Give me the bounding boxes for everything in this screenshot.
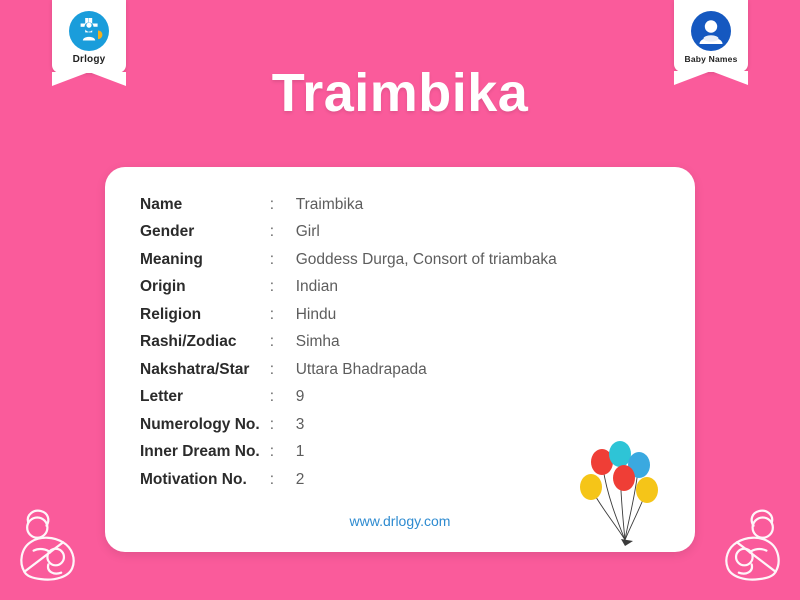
row-label: Numerology No. — [140, 411, 270, 439]
mother-and-baby-icon — [6, 500, 98, 592]
table-row: Inner Dream No. : 1 — [140, 439, 557, 467]
table-row: Nakshatra/Star : Uttara Bhadrapada — [140, 356, 557, 384]
row-value: 9 — [296, 384, 557, 412]
row-value: 1 — [296, 439, 557, 467]
row-value: Girl — [296, 219, 557, 247]
row-colon: : — [270, 384, 296, 412]
row-label: Name — [140, 191, 270, 219]
row-value: Uttara Bhadrapada — [296, 356, 557, 384]
row-label: Motivation No. — [140, 466, 270, 494]
row-colon: : — [270, 219, 296, 247]
row-value: 2 — [296, 466, 557, 494]
row-colon: : — [270, 274, 296, 302]
table-row: Rashi/Zodiac : Simha — [140, 329, 557, 357]
row-label: Nakshatra/Star — [140, 356, 270, 384]
row-value: 3 — [296, 411, 557, 439]
name-details-table: Name : Traimbika Gender : Girl Meaning :… — [140, 191, 557, 494]
row-colon: : — [270, 191, 296, 219]
row-label: Inner Dream No. — [140, 439, 270, 467]
table-row: Origin : Indian — [140, 274, 557, 302]
table-row: Gender : Girl — [140, 219, 557, 247]
table-row: Motivation No. : 2 — [140, 466, 557, 494]
row-colon: : — [270, 356, 296, 384]
row-colon: : — [270, 246, 296, 274]
row-value: Indian — [296, 274, 557, 302]
row-colon: : — [270, 329, 296, 357]
row-value: Simha — [296, 329, 557, 357]
row-label: Gender — [140, 219, 270, 247]
row-label: Origin — [140, 274, 270, 302]
row-value: Hindu — [296, 301, 557, 329]
table-row: Name : Traimbika — [140, 191, 557, 219]
row-colon: : — [270, 301, 296, 329]
name-details-card: Name : Traimbika Gender : Girl Meaning :… — [105, 167, 695, 552]
row-value: Traimbika — [296, 191, 557, 219]
row-colon: : — [270, 439, 296, 467]
baby-avatar-icon — [690, 10, 732, 52]
website-link[interactable]: www.drlogy.com — [105, 513, 695, 529]
table-row: Numerology No. : 3 — [140, 411, 557, 439]
row-label: Religion — [140, 301, 270, 329]
page-title: Traimbika — [0, 62, 800, 124]
table-row: Letter : 9 — [140, 384, 557, 412]
row-value: Goddess Durga, Consort of triambaka — [296, 246, 557, 274]
row-colon: : — [270, 466, 296, 494]
mother-and-baby-icon — [702, 500, 794, 592]
table-row: Meaning : Goddess Durga, Consort of tria… — [140, 246, 557, 274]
table-row: Religion : Hindu — [140, 301, 557, 329]
balloons-icon — [563, 440, 673, 550]
drlogy-logo-icon — [68, 10, 110, 52]
row-colon: : — [270, 411, 296, 439]
row-label: Rashi/Zodiac — [140, 329, 270, 357]
row-label: Letter — [140, 384, 270, 412]
row-label: Meaning — [140, 246, 270, 274]
